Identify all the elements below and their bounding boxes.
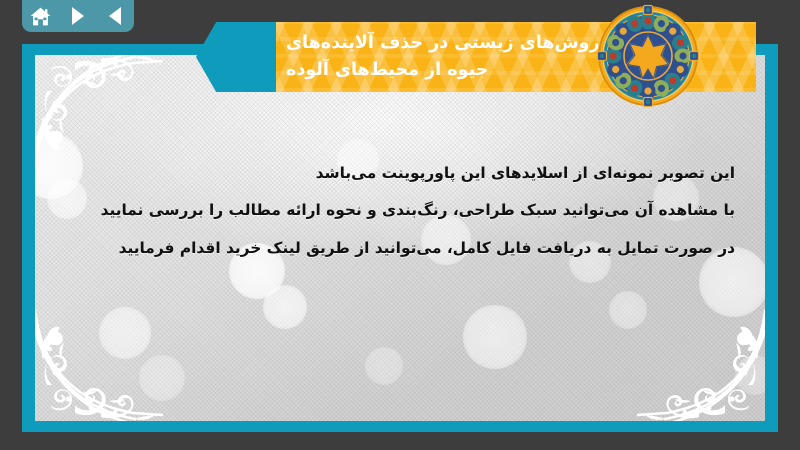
body-line-2: با مشاهده آن می‌توانید سبک طراحی، رنگ‌بن… xyxy=(105,192,735,229)
forward-button[interactable] xyxy=(65,4,91,28)
bokeh-circle xyxy=(735,355,765,395)
bokeh-circle xyxy=(35,133,83,199)
home-button[interactable] xyxy=(28,4,54,28)
arabesque-corner-icon xyxy=(637,303,765,421)
slide-body-text: این تصویر نمونه‌ای از اسلایدهای این پاور… xyxy=(105,155,735,267)
slide-canvas: این تصویر نمونه‌ای از اسلایدهای این پاور… xyxy=(35,55,765,421)
slide-viewer: این تصویر نمونه‌ای از اسلایدهای این پاور… xyxy=(0,0,800,450)
triangle-right-icon xyxy=(72,7,84,25)
title-line-2: جیوه از محیط‌های آلوده xyxy=(286,57,488,84)
home-icon xyxy=(30,7,51,26)
bokeh-circle xyxy=(47,179,87,219)
body-line-1: این تصویر نمونه‌ای از اسلایدهای این پاور… xyxy=(105,155,735,192)
bokeh-circle xyxy=(263,285,307,329)
bokeh-circle xyxy=(99,307,151,359)
persian-medallion-icon xyxy=(596,4,700,108)
bokeh-circle xyxy=(139,355,185,401)
body-line-3: در صورت تمایل به دریافت فایل کامل، می‌تو… xyxy=(105,230,735,267)
navigation-bar xyxy=(22,0,134,32)
arabesque-corner-icon xyxy=(35,303,163,421)
bokeh-circle xyxy=(365,347,403,385)
bokeh-circle xyxy=(609,291,647,329)
bokeh-circle xyxy=(463,305,527,369)
triangle-left-icon xyxy=(109,7,121,25)
back-button[interactable] xyxy=(102,4,128,28)
banner-ribbon-tail xyxy=(196,22,280,92)
